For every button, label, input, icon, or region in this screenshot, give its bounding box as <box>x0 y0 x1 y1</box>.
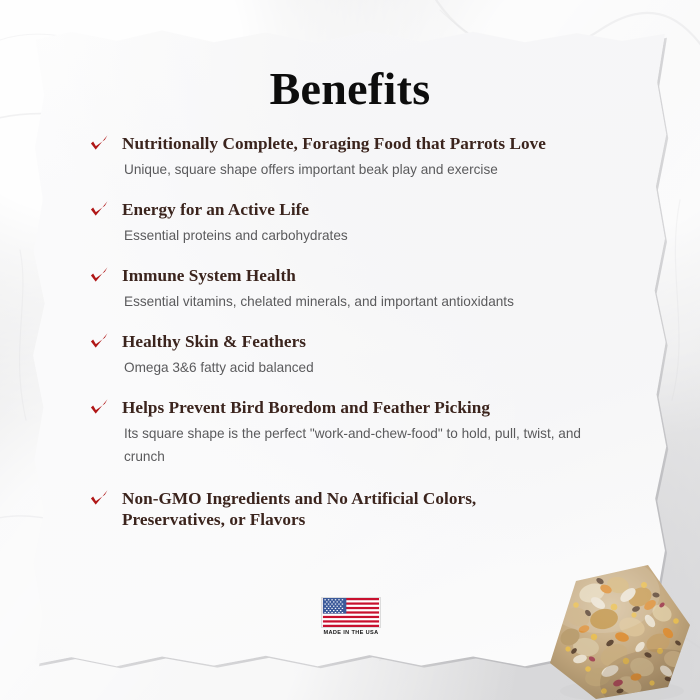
check-icon <box>88 264 110 286</box>
benefit-item: Helps Prevent Bird Boredom and Feather P… <box>88 397 608 468</box>
benefit-title: Immune System Health <box>122 265 608 286</box>
usa-flag-icon <box>321 597 381 628</box>
page-title: Benefits <box>0 62 700 115</box>
bird-food-bar-image <box>540 551 698 700</box>
made-in-usa-badge: MADE IN THE USA <box>321 597 381 636</box>
benefit-description: Unique, square shape offers important be… <box>124 158 608 181</box>
benefit-description: Omega 3&6 fatty acid balanced <box>124 356 608 379</box>
benefit-description: Essential proteins and carbohydrates <box>124 224 608 247</box>
benefit-title: Helps Prevent Bird Boredom and Feather P… <box>122 397 608 418</box>
benefit-description: Its square shape is the perfect "work-an… <box>124 422 602 468</box>
benefit-title: Non-GMO Ingredients and No Artificial Co… <box>122 488 542 530</box>
benefit-item: Immune System Health Essential vitamins,… <box>88 265 608 313</box>
benefit-item: Non-GMO Ingredients and No Artificial Co… <box>88 488 608 530</box>
check-icon <box>88 198 110 220</box>
benefits-panel: Benefits Nutritionally Complete, Foragin… <box>0 0 700 700</box>
benefit-item: Nutritionally Complete, Foraging Food th… <box>88 133 608 181</box>
benefit-item: Energy for an Active Life Essential prot… <box>88 199 608 247</box>
check-icon <box>88 487 110 509</box>
benefit-title: Nutritionally Complete, Foraging Food th… <box>122 133 608 154</box>
benefit-item: Healthy Skin & Feathers Omega 3&6 fatty … <box>88 331 608 379</box>
benefit-title: Healthy Skin & Feathers <box>122 331 608 352</box>
benefits-list: Nutritionally Complete, Foraging Food th… <box>88 133 608 545</box>
check-icon <box>88 132 110 154</box>
benefit-description: Essential vitamins, chelated minerals, a… <box>124 290 608 313</box>
benefit-title: Energy for an Active Life <box>122 199 608 220</box>
check-icon <box>88 396 110 418</box>
made-in-usa-caption: MADE IN THE USA <box>321 630 381 636</box>
check-icon <box>88 330 110 352</box>
